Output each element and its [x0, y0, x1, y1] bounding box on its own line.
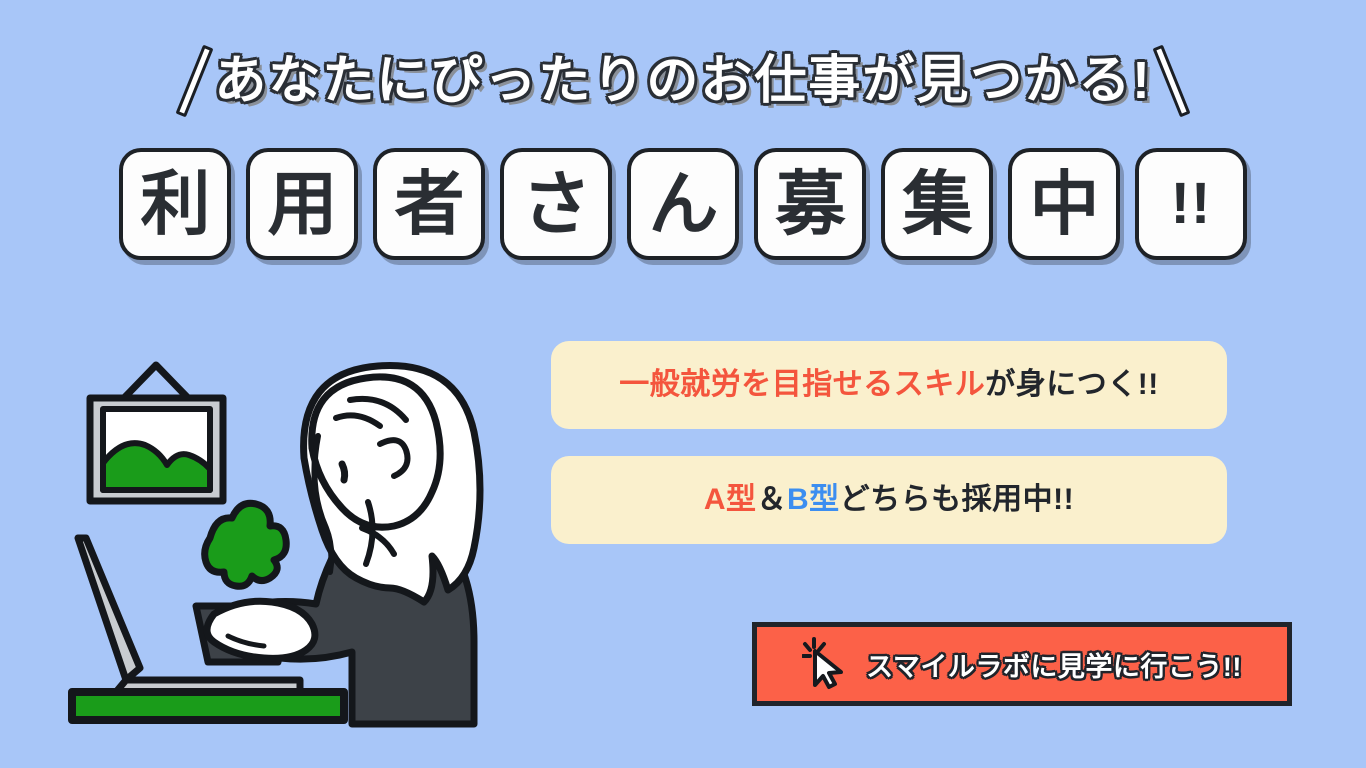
headline-tile-3: 者 [373, 148, 485, 260]
benefit-pill-2: A型＆B型どちらも採用中!! [551, 456, 1227, 544]
headline-tile-8: 中 [1008, 148, 1120, 260]
picture-wire-icon [123, 365, 189, 399]
benefit-2-type-a: A型 [704, 483, 757, 516]
headline-tile-2: 用 [246, 148, 358, 260]
benefit-text-2: A型＆B型どちらも採用中!! [704, 485, 1074, 515]
headline-tile-4: さ [500, 148, 612, 260]
headline-tiles: 利 用 者 さ ん 募 集 中 !! [0, 148, 1366, 260]
desk [72, 692, 344, 720]
benefit-pill-1: 一般就労を目指せるスキルが身につく!! [551, 341, 1227, 429]
headline-tile-1: 利 [119, 148, 231, 260]
headline-tile-char: 用 [268, 169, 337, 239]
tagline-row: あなたにぴったりのお仕事が見つかる! [0, 44, 1366, 118]
headline-tile-6: 募 [754, 148, 866, 260]
headline-tile-char: 集 [903, 169, 972, 239]
slash-left-icon [176, 45, 214, 118]
headline-tile-char: ん [649, 169, 718, 239]
headline-tile-char: 募 [776, 169, 845, 239]
visit-smile-labo-button[interactable]: スマイルラボに見学に行こう!! [752, 622, 1292, 706]
cta-label: スマイルラボに見学に行こう!! [866, 645, 1242, 684]
slash-right-icon [1152, 45, 1190, 118]
benefit-1-highlight: 一般就労を目指せるスキル [619, 368, 985, 401]
mouse-cursor-click-icon [802, 635, 850, 691]
person-eye [342, 464, 345, 480]
woman-working-at-laptop-illustration [68, 352, 538, 730]
headline-tile-char: 者 [395, 169, 464, 239]
headline-tile-char: さ [522, 169, 591, 239]
benefit-1-rest: が身につく!! [985, 368, 1158, 401]
benefit-2-type-b: B型 [787, 483, 840, 516]
tagline-text: あなたにぴったりのお仕事が見つかる! [214, 55, 1151, 107]
headline-tile-9: !! [1135, 148, 1247, 260]
benefit-text-1: 一般就労を目指せるスキルが身につく!! [619, 370, 1158, 400]
benefit-2-ampersand: ＆ [757, 483, 788, 516]
headline-tile-char: 中 [1030, 169, 1099, 239]
headline-tile-char: 利 [141, 169, 210, 239]
headline-tile-7: 集 [881, 148, 993, 260]
headline-tile-5: ん [627, 148, 739, 260]
framed-landscape-picture [90, 398, 223, 501]
benefit-2-rest: どちらも採用中!! [840, 483, 1074, 516]
person-hand [207, 601, 315, 658]
banner-canvas: あなたにぴったりのお仕事が見つかる! 利 用 者 さ ん 募 集 中 !! 一般… [0, 0, 1366, 768]
headline-tile-char: !! [1171, 175, 1212, 233]
